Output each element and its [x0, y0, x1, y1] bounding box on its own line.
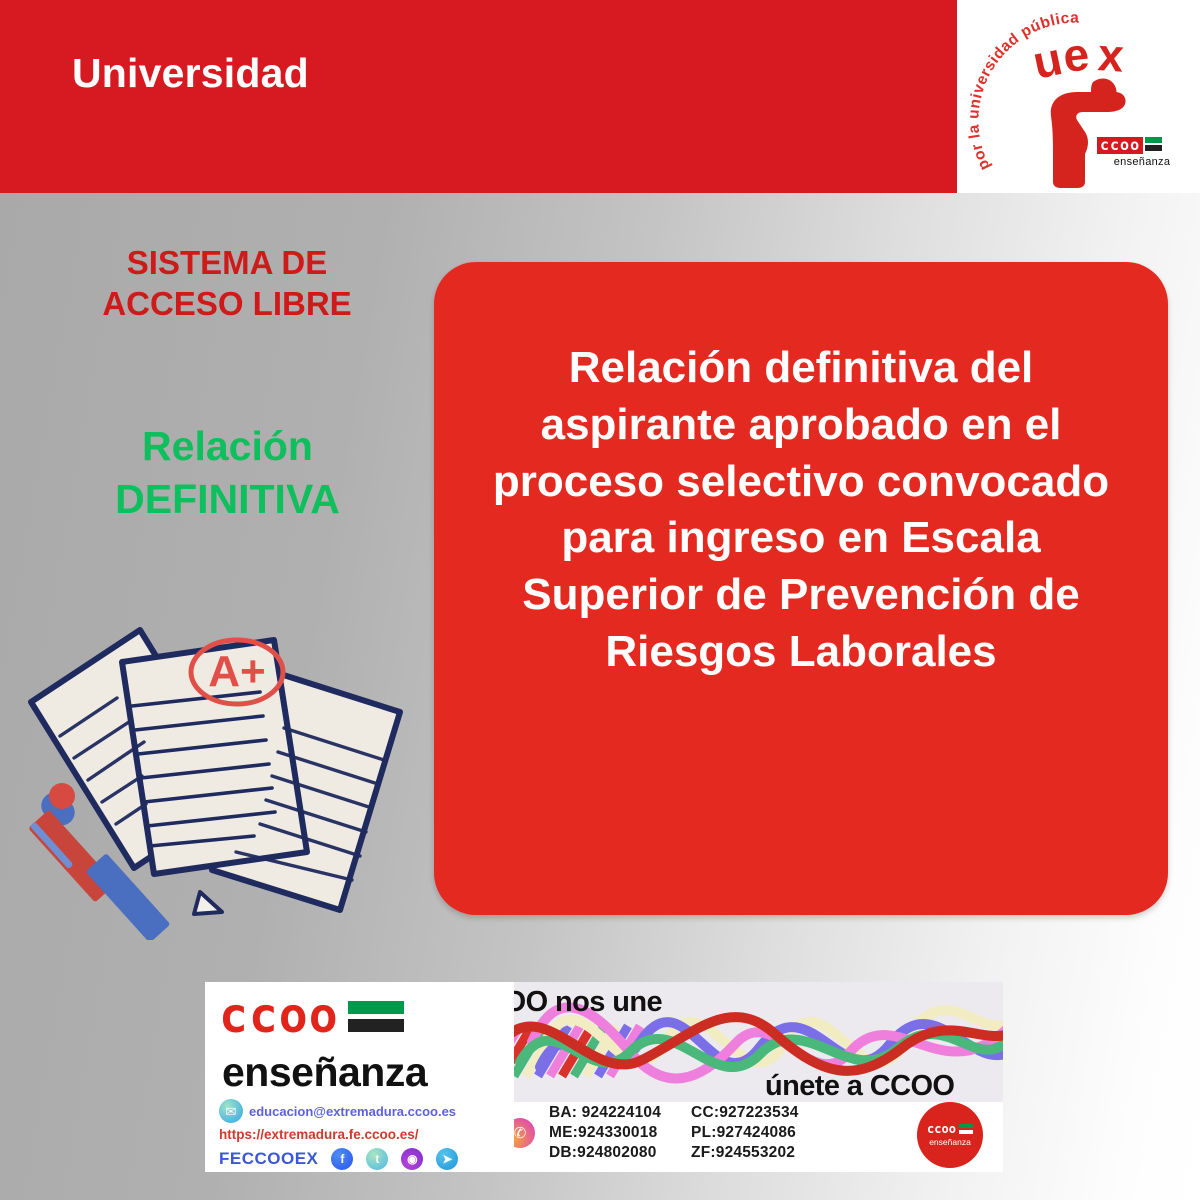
relacion-definitiva-heading: Relación DEFINITIVA: [40, 420, 415, 527]
extremadura-flag-icon: [1145, 137, 1162, 151]
svg-text:A+: A+: [208, 647, 265, 696]
sistema-line-2: ACCESO LIBRE: [62, 284, 392, 325]
relacion-line-2: DEFINITIVA: [40, 473, 415, 526]
phone-line: BA: 924224104: [549, 1104, 661, 1122]
banner-ccoo-round-badge: ccoo enseñanza: [917, 1102, 983, 1168]
sistema-acceso-libre-heading: SISTEMA DE ACCESO LIBRE: [62, 243, 392, 324]
phone-line: ME:924330018: [549, 1124, 661, 1142]
phone-line: ZF:924553202: [691, 1144, 799, 1162]
papers-illustration: A+: [22, 600, 442, 945]
relacion-line-1: Relación: [40, 420, 415, 473]
banner-email-row[interactable]: ✉ educacion@extremadura.ccoo.es: [219, 1099, 456, 1123]
ccoo-wordmark: ccoo: [1097, 137, 1143, 154]
telegram-icon[interactable]: ➤: [436, 1148, 458, 1170]
uex-ccoo-logo: por la universidad pública u e x ccoo en…: [957, 0, 1200, 193]
banner-extremadura-flag-icon: [348, 1001, 404, 1032]
banner-ccoo-wordmark: ccoo: [219, 996, 339, 1037]
mail-icon: ✉: [219, 1099, 243, 1123]
main-announcement-text: Relación definitiva del aspirante aproba…: [478, 340, 1124, 681]
phone-column-1: BA: 924224104 ME:924330018 DB:924802080: [549, 1104, 661, 1162]
instagram-icon[interactable]: ◉: [401, 1148, 423, 1170]
twitter-icon[interactable]: t: [366, 1148, 388, 1170]
phone-line: DB:924802080: [549, 1144, 661, 1162]
ccoo-subtitle: enseñanza: [1097, 156, 1187, 168]
slogan-unete: únete a CCOO: [765, 1070, 954, 1103]
badge-flag-icon: [959, 1124, 973, 1134]
phone-line: PL:927424086: [691, 1124, 799, 1142]
banner-ccoo-logo: ccoo: [219, 996, 404, 1037]
sistema-line-1: SISTEMA DE: [62, 243, 392, 284]
badge-subtitle: enseñanza: [929, 1137, 971, 1147]
banner-ensenanza-label: enseñanza: [222, 1049, 427, 1096]
ccoo-ensenanza-logo: ccoo enseñanza: [1097, 137, 1187, 177]
facebook-icon[interactable]: f: [331, 1148, 353, 1170]
banner-phone-block: ✆ BA: 924224104 ME:924330018 DB:92480208…: [505, 1104, 799, 1162]
contact-banner: CCOO nos une únete a CCOO ccoo enseñanza…: [205, 982, 1003, 1172]
banner-social-row: FECCOOEX f t ◉ ➤: [219, 1148, 458, 1170]
banner-contact-card: ccoo enseñanza ✉ educacion@extremadura.c…: [205, 982, 514, 1172]
banner-email-text[interactable]: educacion@extremadura.ccoo.es: [249, 1104, 456, 1119]
page-title: Universidad: [72, 50, 309, 97]
papers-pen-svg: A+: [22, 600, 442, 940]
svg-text:e: e: [1061, 28, 1092, 82]
svg-text:x: x: [1096, 28, 1126, 82]
main-announcement-card: Relación definitiva del aspirante aproba…: [434, 262, 1168, 915]
phone-line: CC:927223534: [691, 1104, 799, 1122]
badge-ccoo-wordmark: ccoo: [927, 1123, 956, 1135]
banner-website-link[interactable]: https://extremadura.fe.ccoo.es/: [219, 1127, 419, 1142]
banner-feccooex-label: FECCOOEX: [219, 1149, 318, 1169]
phone-column-2: CC:927223534 PL:927424086 ZF:924553202: [691, 1104, 799, 1162]
